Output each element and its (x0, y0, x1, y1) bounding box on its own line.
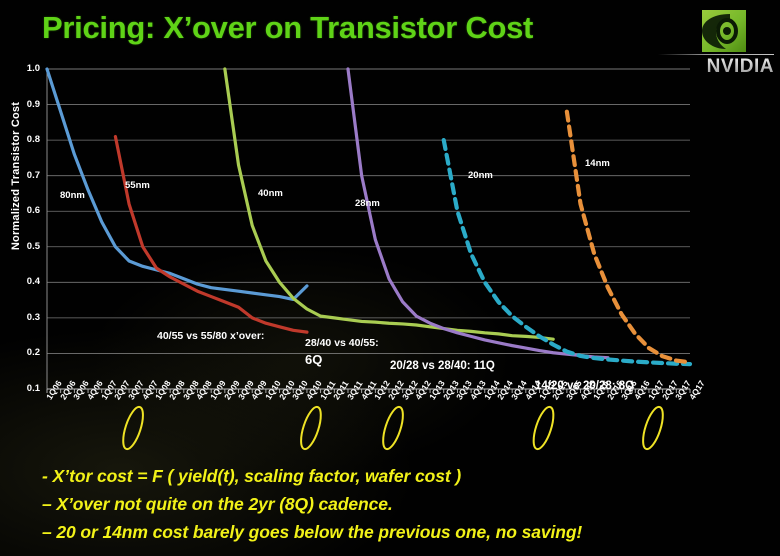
series-label-80nm: 80nm (60, 190, 85, 201)
bullet-marker: – (42, 522, 56, 542)
bullet-marker: – (42, 494, 56, 514)
bullet-1: – X’over not quite on the 2yr (8Q) caden… (42, 494, 393, 515)
bullet-list: - X’tor cost = F ( yield(t), scaling fac… (0, 462, 780, 556)
quarter-highlight-3Q07 (119, 405, 147, 451)
bullet-text: 20 or 14nm cost barely goes below the pr… (56, 522, 582, 542)
annotation-1: 28/40 vs 40/55: (305, 337, 379, 349)
annotation-0: 40/55 vs 55/80 x’over: (157, 330, 264, 342)
series-label-20nm: 20nm (468, 170, 493, 181)
bullet-text: X’over not quite on the 2yr (8Q) cadence… (56, 494, 392, 514)
series-label-14nm: 14nm (585, 158, 610, 169)
annotation-2: 6Q (305, 352, 322, 367)
quarter-highlight-1Q17 (639, 405, 667, 451)
transistor-cost-chart: Normalized Transistor Cost 1.00.90.80.70… (0, 0, 780, 460)
bullet-marker: - (42, 466, 53, 486)
series-label-55nm: 55nm (125, 180, 150, 191)
annotation-3: 20/28 vs 28/40: 11Q (390, 360, 495, 372)
bullet-text: X’tor cost = F ( yield(t), scaling facto… (53, 466, 462, 486)
series-line-55nm (115, 137, 307, 333)
series-line-40nm (225, 69, 553, 339)
quarter-highlight-2Q12 (379, 405, 407, 451)
series-label-28nm: 28nm (355, 198, 380, 209)
series-line-14nm (567, 112, 690, 363)
quarter-highlight-1Q15 (530, 405, 558, 451)
slide-canvas: Pricing: X’over on Transistor Cost NVID (0, 0, 780, 556)
bullet-2: – 20 or 14nm cost barely goes below the … (42, 522, 582, 543)
annotation-4: 14/20 vs 20/28: 8Q (535, 380, 634, 392)
quarter-highlight-4Q10 (297, 405, 325, 451)
series-label-40nm: 40nm (258, 188, 283, 199)
bullet-0: - X’tor cost = F ( yield(t), scaling fac… (42, 466, 461, 487)
plot-area (0, 0, 780, 460)
